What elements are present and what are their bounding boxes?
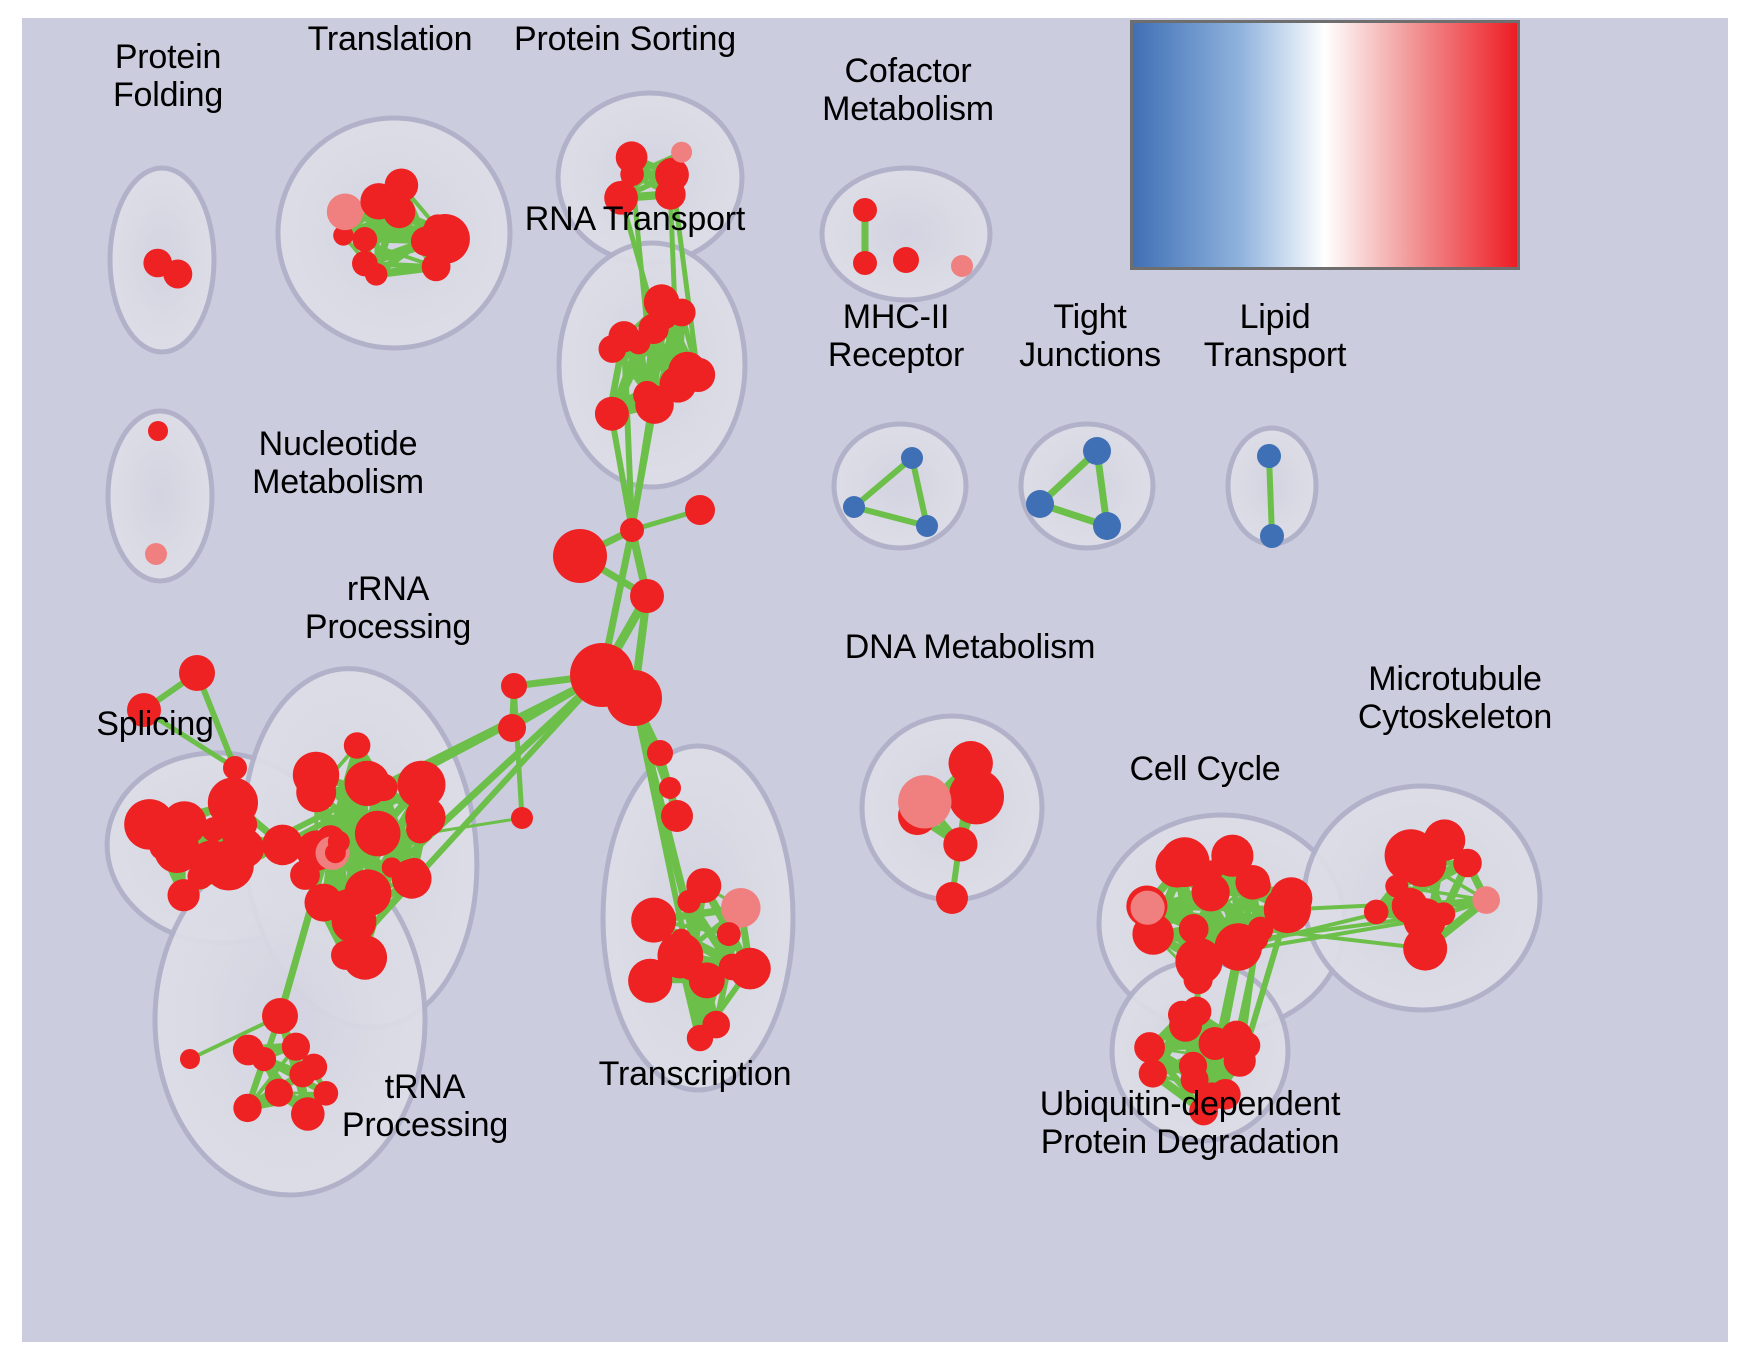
network-node bbox=[385, 169, 419, 203]
network-node bbox=[633, 383, 657, 407]
network-node bbox=[327, 194, 364, 231]
network-node bbox=[630, 579, 664, 613]
network-node bbox=[1131, 891, 1165, 925]
network-node bbox=[305, 884, 343, 922]
network-node bbox=[230, 811, 257, 838]
network-node bbox=[398, 761, 446, 809]
cluster-label-nucleotide-metabolism: Nucleotide Metabolism bbox=[198, 425, 478, 501]
network-node bbox=[687, 1025, 713, 1051]
network-node bbox=[686, 868, 721, 903]
network-node bbox=[1139, 1059, 1167, 1087]
network-node bbox=[668, 352, 706, 390]
network-node bbox=[853, 251, 877, 275]
network-node bbox=[721, 888, 761, 928]
network-node bbox=[1257, 444, 1281, 468]
network-node bbox=[293, 752, 339, 798]
cluster-label-mhc-ii-receptor: MHC-II Receptor bbox=[786, 298, 1006, 374]
network-node bbox=[1235, 865, 1270, 900]
network-node bbox=[553, 529, 607, 583]
figure-root: Protein FoldingTranslationProtein Sortin… bbox=[0, 0, 1750, 1360]
network-node bbox=[162, 801, 206, 845]
network-node bbox=[1179, 1052, 1207, 1080]
network-node bbox=[661, 800, 693, 832]
cluster-hull-cofactor-metabolism bbox=[822, 168, 990, 300]
network-canvas: Protein FoldingTranslationProtein Sortin… bbox=[22, 18, 1728, 1342]
network-node bbox=[262, 998, 298, 1034]
network-node bbox=[1364, 900, 1389, 925]
network-node bbox=[511, 807, 533, 829]
network-node bbox=[936, 882, 968, 914]
network-node bbox=[843, 496, 865, 518]
cluster-label-microtubule-cytoskeleton: Microtubule Cytoskeleton bbox=[1295, 660, 1615, 736]
network-node bbox=[853, 198, 877, 222]
network-node bbox=[595, 397, 629, 431]
network-node bbox=[659, 777, 681, 799]
network-node bbox=[1093, 512, 1121, 540]
network-node bbox=[1260, 524, 1284, 548]
network-node bbox=[148, 421, 168, 441]
network-node bbox=[1453, 849, 1482, 878]
network-node bbox=[1134, 1032, 1165, 1063]
cluster-label-cofactor-metabolism: Cofactor Metabolism bbox=[778, 52, 1038, 128]
network-node bbox=[352, 227, 377, 252]
legend-color-bar bbox=[1204, 78, 1446, 130]
cluster-label-ubiquitin-protein-degradation: Ubiquitin-dependent Protein Degradation bbox=[970, 1085, 1410, 1161]
network-node bbox=[1472, 886, 1500, 914]
cluster-label-trna-processing: tRNA Processing bbox=[300, 1068, 550, 1144]
network-node bbox=[671, 142, 692, 163]
network-node bbox=[717, 922, 741, 946]
network-node bbox=[606, 670, 662, 726]
cluster-label-protein-folding: Protein Folding bbox=[58, 38, 278, 114]
network-node bbox=[233, 1094, 261, 1122]
network-node bbox=[671, 929, 692, 950]
network-node bbox=[424, 214, 452, 242]
network-node bbox=[1220, 1021, 1252, 1053]
network-node bbox=[943, 827, 977, 861]
network-node bbox=[331, 941, 360, 970]
cluster-label-lipid-transport: Lipid Transport bbox=[1160, 298, 1390, 374]
network-node bbox=[498, 714, 526, 742]
network-node bbox=[616, 141, 648, 173]
network-node bbox=[422, 252, 451, 281]
cluster-hull-mhc-ii-receptor bbox=[834, 424, 966, 548]
network-node bbox=[951, 255, 973, 277]
network-node bbox=[145, 543, 167, 565]
network-node bbox=[392, 859, 432, 899]
network-node bbox=[631, 898, 676, 943]
network-node bbox=[668, 299, 696, 327]
network-node bbox=[501, 673, 527, 699]
network-node bbox=[1083, 437, 1111, 465]
network-node bbox=[143, 249, 172, 278]
network-node bbox=[262, 825, 303, 866]
network-node bbox=[252, 1047, 276, 1071]
cluster-label-rrna-processing: rRNA Processing bbox=[258, 570, 518, 646]
network-node bbox=[1182, 997, 1212, 1027]
network-node bbox=[355, 811, 401, 857]
cluster-label-dna-metabolism: DNA Metabolism bbox=[800, 628, 1140, 666]
network-node bbox=[1026, 490, 1054, 518]
network-node bbox=[370, 774, 397, 801]
network-node bbox=[328, 831, 350, 853]
network-node bbox=[901, 447, 923, 469]
network-node bbox=[647, 740, 673, 766]
cluster-label-rna-transport: RNA Transport bbox=[480, 200, 790, 238]
network-node bbox=[168, 879, 200, 911]
cluster-label-cell-cycle: Cell Cycle bbox=[1090, 750, 1320, 788]
network-node bbox=[344, 732, 371, 759]
network-node bbox=[1179, 914, 1209, 944]
network-node bbox=[180, 1049, 200, 1069]
network-node bbox=[352, 251, 378, 277]
network-node bbox=[223, 756, 247, 780]
network-node bbox=[949, 741, 993, 785]
network-node bbox=[1204, 860, 1224, 880]
network-node bbox=[1270, 877, 1312, 919]
network-node bbox=[729, 948, 771, 990]
network-node bbox=[898, 775, 951, 828]
network-node bbox=[916, 515, 938, 537]
cluster-label-transcription: Transcription bbox=[565, 1055, 825, 1093]
network-node bbox=[179, 655, 215, 691]
network-node bbox=[620, 518, 644, 542]
network-node bbox=[1189, 948, 1222, 981]
network-node bbox=[406, 816, 434, 844]
network-node bbox=[685, 495, 715, 525]
network-node bbox=[893, 247, 919, 273]
legend-box: Enriched in... Down Up in estrogen-treat… bbox=[1130, 20, 1520, 270]
cluster-label-splicing: Splicing bbox=[55, 705, 255, 743]
cluster-label-protein-sorting: Protein Sorting bbox=[470, 20, 780, 58]
network-node bbox=[265, 1079, 293, 1107]
